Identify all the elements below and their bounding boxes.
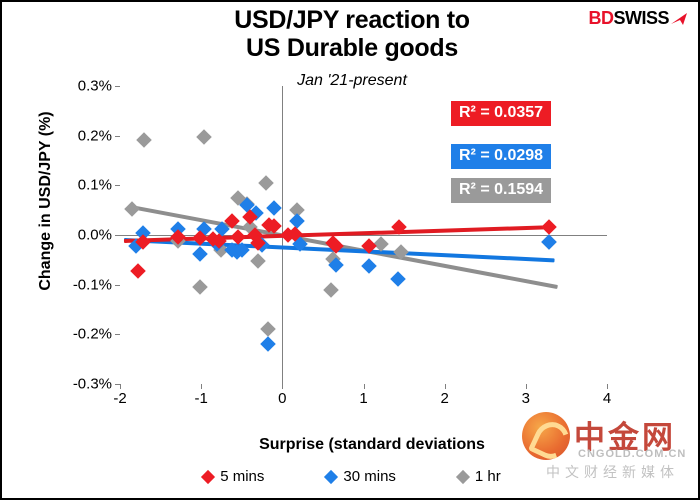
data-point — [258, 175, 274, 191]
data-point — [289, 213, 305, 229]
x-tick-mark — [607, 384, 608, 389]
chart-frame: BDSWISS USD/JPY reaction to US Durable g… — [0, 0, 700, 500]
x-tick-mark — [364, 384, 365, 389]
data-point — [323, 282, 339, 298]
x-tick-label: -1 — [194, 390, 207, 407]
y-axis-label: Change in USD/JPY (%) — [37, 61, 55, 341]
legend-label-5mins: 5 mins — [220, 468, 264, 485]
x-tick-mark — [120, 384, 121, 389]
legend-item-5mins[interactable]: 5 mins — [203, 468, 264, 485]
y-tick-label: 0.1% — [78, 177, 112, 194]
y-tick-label: 0.0% — [78, 227, 112, 244]
legend-item-1hr[interactable]: 1 hr — [458, 468, 501, 485]
data-point — [197, 129, 213, 145]
x-tick-mark — [282, 384, 283, 389]
y-tick-label: -0.3% — [73, 376, 112, 393]
data-point — [124, 201, 140, 217]
chart-title-line1: USD/JPY reaction to — [2, 6, 700, 34]
x-tick-label: 1 — [359, 390, 367, 407]
plot-area: 0.3%0.2%0.1%0.0%-0.1%-0.2%-0.3%-2-101234 — [120, 86, 607, 384]
chart-title-line2: US Durable goods — [2, 34, 700, 62]
x-tick-label: 4 — [603, 390, 611, 407]
x-tick-mark — [445, 384, 446, 389]
y-tick-mark — [115, 235, 120, 236]
y-tick-label: -0.2% — [73, 326, 112, 343]
chart-title: USD/JPY reaction to US Durable goods — [2, 6, 700, 62]
legend-label-1hr: 1 hr — [475, 468, 501, 485]
x-tick-label: 2 — [440, 390, 448, 407]
data-point — [260, 336, 276, 352]
y-tick-label: 0.3% — [78, 78, 112, 95]
data-point — [361, 258, 377, 274]
x-tick-label: 3 — [522, 390, 530, 407]
data-point — [192, 246, 208, 262]
x-tick-mark — [201, 384, 202, 389]
y-tick-mark — [115, 334, 120, 335]
data-point — [260, 322, 276, 338]
trendline-1-hr — [130, 205, 557, 289]
legend-marker-5mins-icon — [201, 469, 215, 483]
legend-label-30mins: 30 mins — [343, 468, 396, 485]
r2-badge-30mins: R² = 0.0298 — [451, 144, 551, 169]
chart-legend: 5 mins 30 mins 1 hr — [2, 468, 700, 485]
data-point — [541, 234, 557, 250]
legend-marker-30mins-icon — [324, 469, 338, 483]
x-tick-label: 0 — [278, 390, 286, 407]
y-tick-label: 0.2% — [78, 127, 112, 144]
legend-item-30mins[interactable]: 30 mins — [326, 468, 396, 485]
data-point — [541, 219, 557, 235]
y-tick-mark — [115, 185, 120, 186]
y-tick-label: -0.1% — [73, 276, 112, 293]
y-tick-mark — [115, 86, 120, 87]
data-point — [250, 253, 266, 269]
x-tick-label: -2 — [113, 390, 126, 407]
y-tick-mark — [115, 136, 120, 137]
data-point — [266, 200, 282, 216]
r2-badge-5mins: R² = 0.0357 — [451, 101, 551, 126]
y-tick-mark — [115, 285, 120, 286]
data-point — [130, 263, 146, 279]
data-point — [192, 279, 208, 295]
x-tick-mark — [526, 384, 527, 389]
x-axis-label: Surprise (standard deviations — [112, 436, 632, 454]
legend-marker-1hr-icon — [456, 469, 470, 483]
data-point — [390, 271, 406, 287]
r2-badge-1hr: R² = 0.1594 — [451, 178, 551, 203]
trendline-5-mins — [124, 225, 554, 243]
data-point — [137, 132, 153, 148]
